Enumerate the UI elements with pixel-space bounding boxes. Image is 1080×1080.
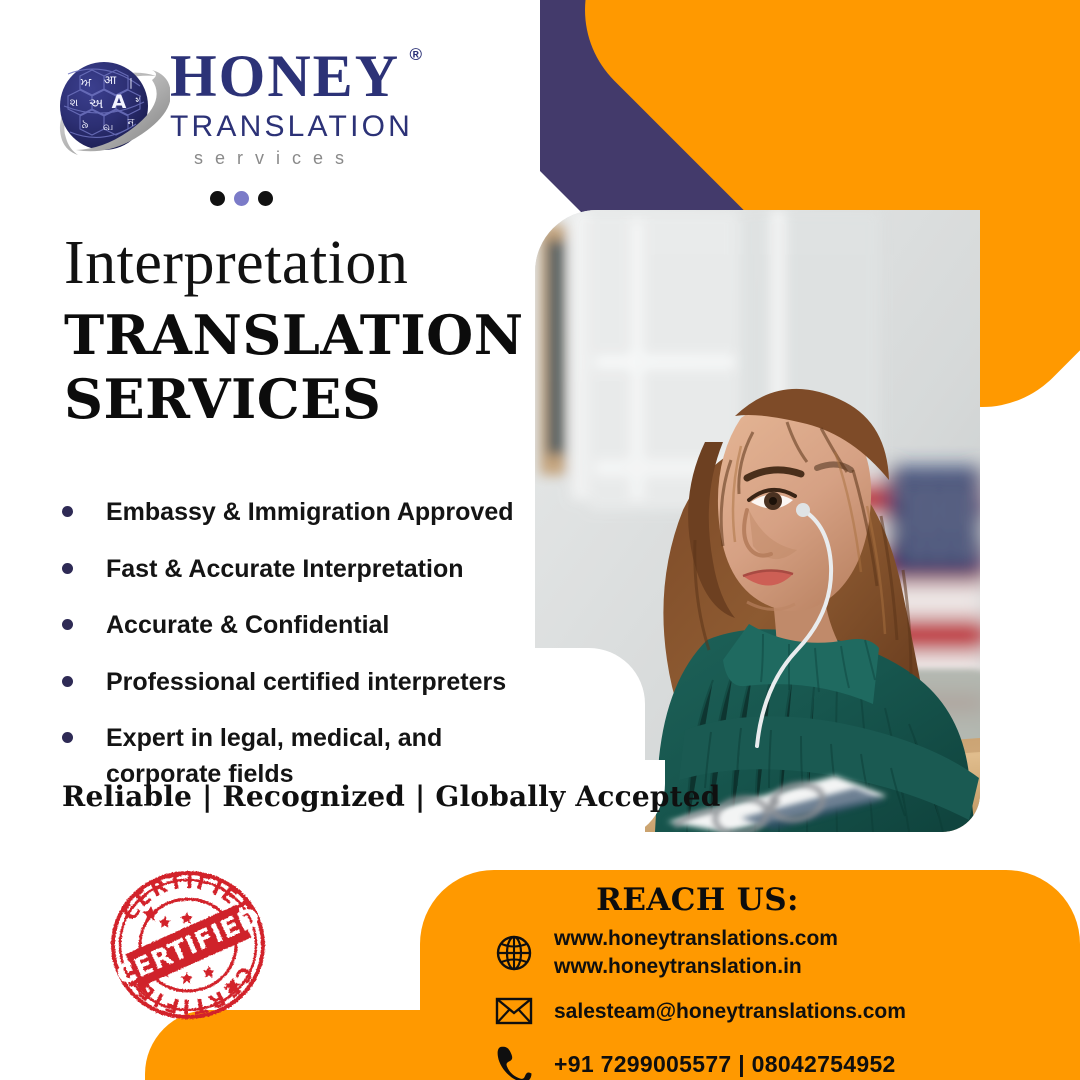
svg-text:અ: અ bbox=[89, 96, 104, 112]
logo-brand-secondary: TRANSLATION bbox=[170, 110, 460, 145]
list-item-label: Professional certified interpreters bbox=[106, 665, 506, 701]
list-item: Embassy & Immigration Approved bbox=[56, 495, 536, 531]
list-item-label: Fast & Accurate Interpretation bbox=[106, 552, 463, 588]
website-secondary[interactable]: www.honeytranslation.in bbox=[554, 953, 838, 981]
headline-script-line: Interpretation bbox=[64, 232, 534, 294]
bullet-point-icon bbox=[62, 732, 73, 743]
svg-text:ন: ন bbox=[127, 116, 135, 129]
brand-logo[interactable]: ਅ आ | શ અ A ৶ ৯ வ ন HONEY® TRANSLATION bbox=[52, 46, 452, 176]
certified-stamp-icon: CERTIFIED CERTIFIED bbox=[107, 866, 269, 1024]
contact-email-text[interactable]: salesteam@honeytranslations.com bbox=[554, 998, 906, 1026]
dot-1 bbox=[210, 191, 225, 206]
svg-text:৶: ৶ bbox=[135, 94, 141, 105]
dot-3 bbox=[258, 191, 273, 206]
list-item: Professional certified interpreters bbox=[56, 665, 536, 701]
list-item: Fast & Accurate Interpretation bbox=[56, 552, 536, 588]
list-item-label: Embassy & Immigration Approved bbox=[106, 495, 514, 531]
bullet-point-icon bbox=[62, 676, 73, 687]
tagline: Reliable | Recognized | Globally Accepte… bbox=[62, 780, 721, 813]
reach-us-title: REACH US: bbox=[420, 882, 975, 918]
headline-main-line-2: SERVICES bbox=[64, 368, 534, 432]
list-item: Accurate & Confidential bbox=[56, 608, 536, 644]
contact-phone-text[interactable]: +91 7299005577 | 08042754952 bbox=[554, 1049, 896, 1079]
bullet-point-icon bbox=[62, 619, 73, 630]
svg-text:आ: आ bbox=[104, 73, 117, 87]
decorative-dots bbox=[210, 191, 273, 206]
headline-main-lines: TRANSLATION SERVICES bbox=[64, 304, 534, 431]
contact-website-lines: www.honeytranslations.com www.honeytrans… bbox=[554, 925, 838, 980]
background-mask-bottom-right bbox=[975, 530, 1080, 870]
logo-wordmark: HONEY® TRANSLATION services bbox=[170, 46, 460, 170]
logo-brand-primary-text: HONEY bbox=[170, 43, 400, 109]
website-primary[interactable]: www.honeytranslations.com bbox=[554, 925, 838, 953]
svg-text:৯: ৯ bbox=[81, 117, 89, 131]
svg-text:શ: શ bbox=[70, 96, 79, 109]
logo-brand-tertiary: services bbox=[170, 147, 460, 170]
bullet-point-icon bbox=[62, 506, 73, 517]
headline-main-line-1: TRANSLATION bbox=[64, 304, 534, 368]
poster-canvas: ਅ आ | શ અ A ৶ ৯ வ ন HONEY® TRANSLATION bbox=[0, 0, 1080, 1080]
contact-list: www.honeytranslations.com www.honeytrans… bbox=[492, 925, 1072, 1080]
svg-text:ਅ: ਅ bbox=[80, 75, 92, 89]
svg-text:வ: வ bbox=[103, 120, 114, 133]
svg-text:|: | bbox=[129, 76, 133, 89]
envelope-icon bbox=[492, 989, 536, 1033]
page-title: Interpretation TRANSLATION SERVICES bbox=[64, 232, 534, 431]
feature-list: Embassy & Immigration Approved Fast & Ac… bbox=[56, 495, 536, 813]
list-item-label: Accurate & Confidential bbox=[106, 608, 389, 644]
logo-brand-primary: HONEY® bbox=[170, 46, 400, 106]
globe-icon bbox=[492, 931, 536, 975]
svg-text:A: A bbox=[112, 91, 127, 113]
phone-icon bbox=[492, 1042, 536, 1080]
bullet-point-icon bbox=[62, 563, 73, 574]
contact-row-email[interactable]: salesteam@honeytranslations.com bbox=[492, 989, 1072, 1033]
contact-row-website[interactable]: www.honeytranslations.com www.honeytrans… bbox=[492, 925, 1072, 980]
globe-languages-icon: ਅ आ | શ અ A ৶ ৯ வ ন bbox=[52, 54, 170, 166]
registered-trademark-icon: ® bbox=[410, 46, 423, 63]
contact-row-phone[interactable]: +91 7299005577 | 08042754952 bbox=[492, 1042, 1072, 1080]
dot-2 bbox=[234, 191, 249, 206]
